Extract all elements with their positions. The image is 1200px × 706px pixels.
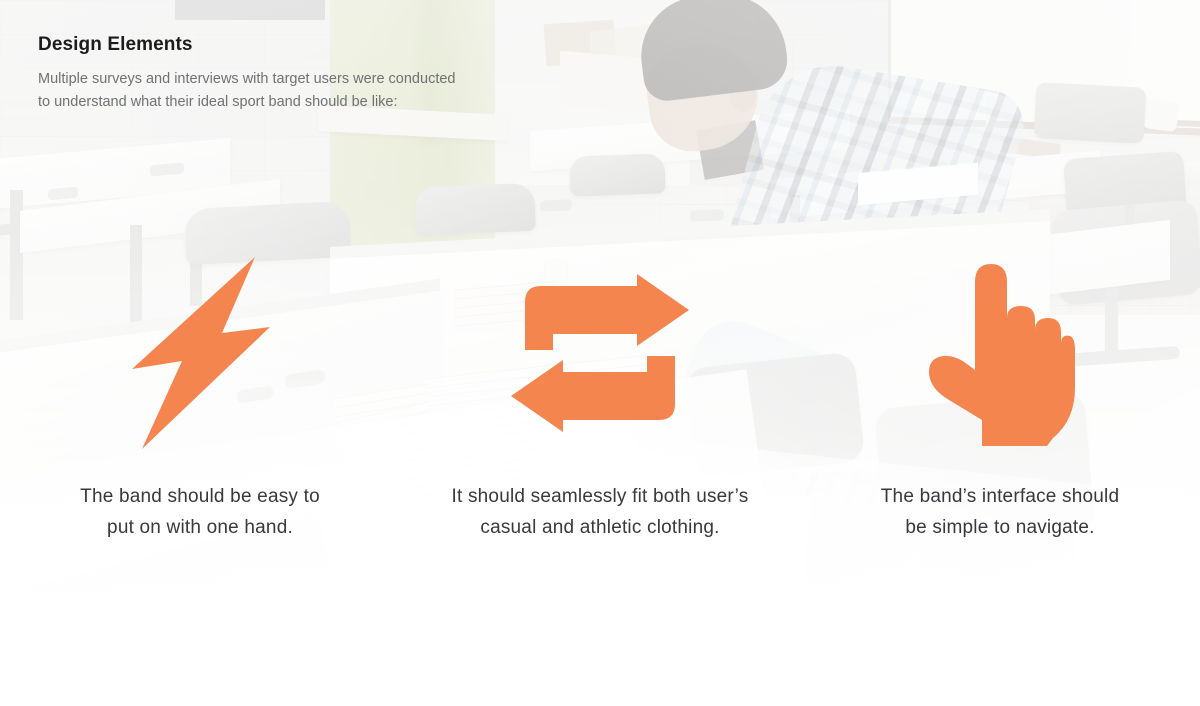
design-elements-slide: Design Elements Multiple surveys and int… (0, 0, 1200, 706)
office-chair (1034, 82, 1147, 144)
feature-caption-1: The band should be easy to put on with o… (10, 481, 390, 543)
classroom-chair (569, 153, 665, 196)
classroom-chair (414, 183, 536, 235)
feature-caption-3: The band’s interface should be simple to… (810, 481, 1190, 543)
feature-item-1: The band should be easy to put on with o… (10, 250, 390, 543)
page-title: Design Elements (38, 34, 193, 56)
person-hair (634, 0, 790, 103)
swap-arrows-icon (410, 250, 790, 455)
feature-caption-2: It should seamlessly fit both user’s cas… (410, 481, 790, 543)
tissue (1142, 98, 1180, 132)
ceiling-panel (175, 0, 325, 20)
lightning-bolt-icon (10, 250, 390, 455)
page-subtitle: Multiple surveys and interviews with tar… (38, 68, 455, 114)
feature-item-3: The band’s interface should be simple to… (810, 250, 1190, 543)
desk-grommet (540, 199, 572, 212)
desk-grommet (690, 209, 724, 222)
pointing-hand-icon (810, 250, 1190, 455)
feature-item-2: It should seamlessly fit both user’s cas… (410, 250, 790, 543)
